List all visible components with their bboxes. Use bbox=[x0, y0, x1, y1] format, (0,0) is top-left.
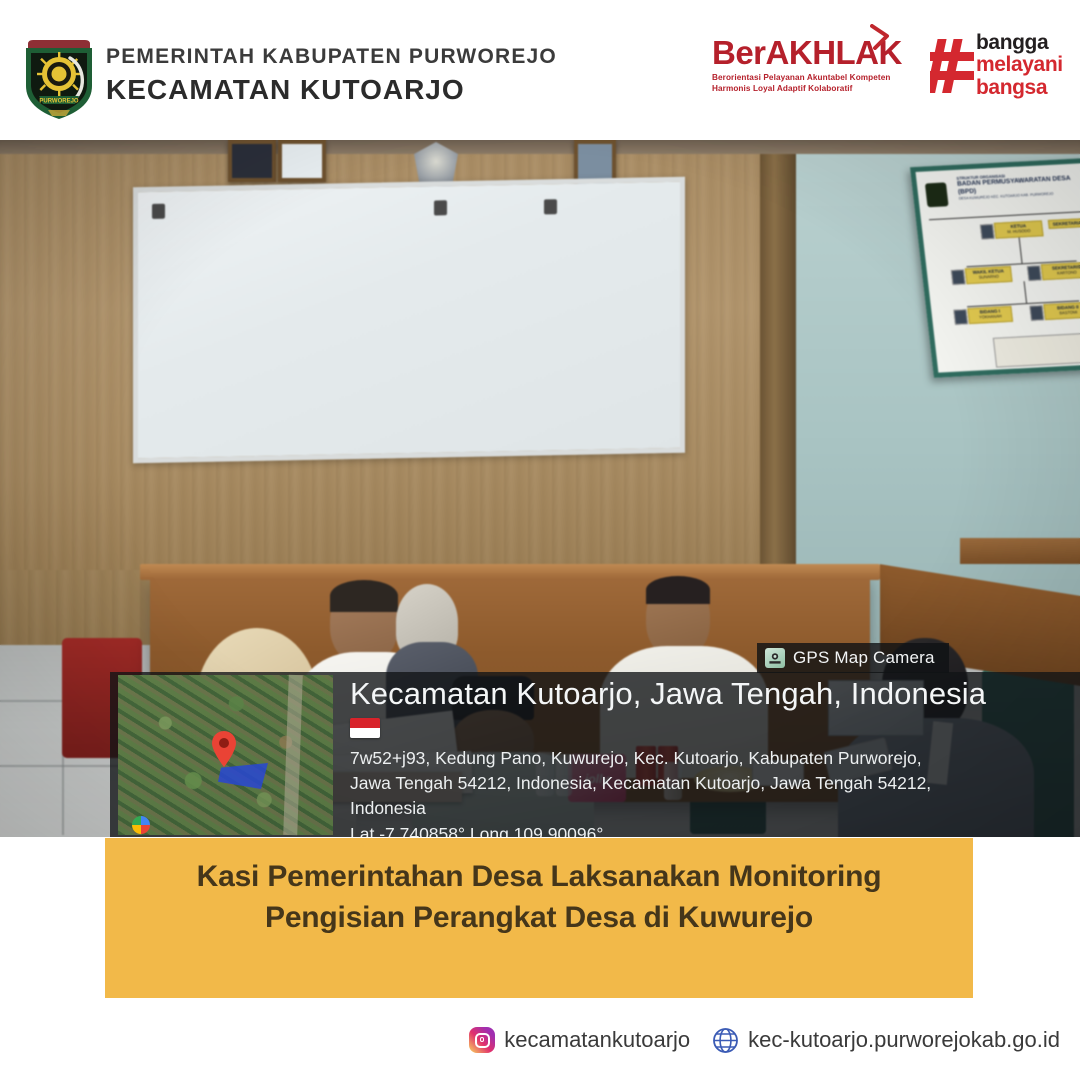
bangga-line1: bangga bbox=[976, 32, 1063, 54]
whiteboard-clip-icon bbox=[434, 200, 447, 215]
poster-node-role: SEKRETARIAT bbox=[1049, 219, 1080, 227]
caption-line1: Kasi Pemerintahan Desa Laksanakan Monito… bbox=[139, 856, 939, 897]
whiteboard-clip-icon bbox=[544, 199, 557, 214]
poster-heading: STRUKTUR ORGANISASI BADAN PERMUSYAWARATA… bbox=[956, 169, 1080, 201]
caption-text: Kasi Pemerintahan Desa Laksanakan Monito… bbox=[139, 856, 939, 939]
poster-node-photo bbox=[1029, 305, 1044, 321]
poster-node-photo bbox=[951, 269, 966, 285]
bangga-melayani-bangsa-logo: bangga melayani bangsa bbox=[930, 33, 1070, 105]
wall-frame-photo bbox=[278, 140, 326, 182]
instagram-handle[interactable]: kecamatankutoarjo bbox=[469, 1027, 690, 1053]
instagram-handle-label: kecamatankutoarjo bbox=[504, 1027, 690, 1053]
page-title-line1: PEMERINTAH KABUPATEN PURWOREJO bbox=[106, 44, 557, 70]
instagram-icon bbox=[469, 1027, 495, 1053]
poster-node-name: YOKHANAH bbox=[969, 313, 1012, 320]
gps-map-camera-app-icon bbox=[765, 648, 785, 668]
page-header: PURWOREJO PEMERINTAH KABUPATEN PURWOREJO… bbox=[0, 0, 1080, 140]
poster-node-sekretariat: SEKRETARIAT bbox=[1048, 218, 1080, 229]
whiteboard-clip-icon bbox=[152, 204, 165, 219]
poster-footnote bbox=[993, 332, 1080, 367]
berakhlak-swoosh-icon bbox=[870, 24, 890, 50]
gps-address: 7w52+j93, Kedung Pano, Kuwurejo, Kec. Ku… bbox=[350, 746, 960, 821]
map-thumbnail bbox=[118, 675, 333, 835]
poster-node-photo bbox=[953, 309, 968, 325]
poster-connector bbox=[1024, 281, 1027, 303]
gps-place-name: Kecamatan Kutoarjo, Jawa Tengah, Indones… bbox=[350, 677, 1078, 711]
event-photo: STRUKTUR ORGANISASI BADAN PERMUSYAWARATA… bbox=[0, 140, 1080, 837]
whiteboard bbox=[133, 177, 685, 464]
poster-node-photo bbox=[980, 224, 995, 240]
berakhlak-tagline-line2: Harmonis Loyal Adaptif Kolaboratif bbox=[712, 83, 902, 94]
page-footer: kecamatankutoarjo kec-kutoarjo.purworejo… bbox=[0, 1000, 1080, 1080]
poster-node-name: M. HUSODO bbox=[996, 227, 1043, 234]
bangga-line3: bangsa bbox=[976, 77, 1063, 99]
map-pin-icon bbox=[210, 730, 238, 768]
gps-lat-long: Lat -7.740858° Long 109.90096° bbox=[350, 822, 1078, 837]
berakhlak-tagline-line1: Berorientasi Pelayanan Akuntabel Kompete… bbox=[712, 72, 902, 83]
poster-node-bidang-1: BIDANG I YOKHANAH bbox=[967, 306, 1013, 324]
google-maps-logo-icon bbox=[132, 816, 150, 834]
header-titles: PEMERINTAH KABUPATEN PURWOREJO KECAMATAN… bbox=[106, 44, 557, 107]
bangga-line2: melayani bbox=[976, 54, 1063, 76]
indonesia-flag-icon bbox=[350, 718, 380, 738]
poster-node-ketua: KETUA M. HUSODO bbox=[994, 220, 1044, 238]
gps-location-text: Kecamatan Kutoarjo, Jawa Tengah, Indones… bbox=[350, 677, 1078, 837]
wooden-bench bbox=[960, 538, 1080, 564]
poster-node-bidang-2: BIDANG II BASTOMI bbox=[1043, 302, 1080, 320]
berakhlak-tagline: Berorientasi Pelayanan Akuntabel Kompete… bbox=[712, 72, 902, 94]
ceiling-strip bbox=[0, 140, 1080, 154]
poster-node-photo bbox=[1027, 265, 1042, 281]
website-link[interactable]: kec-kutoarjo.purworejokab.go.id bbox=[712, 1027, 1060, 1054]
map-road bbox=[283, 675, 303, 835]
caption-line2: Pengisian Perangkat Desa di Kuwurejo bbox=[139, 897, 939, 938]
purworejo-regency-crest-icon: PURWOREJO bbox=[22, 34, 96, 122]
gps-map-camera-badge: GPS Map Camera bbox=[757, 643, 949, 673]
caption-banner: Kasi Pemerintahan Desa Laksanakan Monito… bbox=[105, 838, 973, 998]
poster-node-sekretaris: SEKRETARIS KARTONO bbox=[1041, 262, 1080, 281]
gps-info-panel: Kecamatan Kutoarjo, Jawa Tengah, Indones… bbox=[110, 672, 1080, 837]
poster-connector bbox=[1019, 237, 1023, 263]
website-url-label: kec-kutoarjo.purworejokab.go.id bbox=[748, 1027, 1060, 1053]
bangga-wordmark: bangga melayani bangsa bbox=[976, 32, 1063, 99]
globe-icon bbox=[712, 1027, 739, 1054]
wall-frame-photo bbox=[228, 140, 276, 182]
svg-text:PURWOREJO: PURWOREJO bbox=[39, 99, 79, 105]
poster-crest-icon bbox=[925, 182, 949, 207]
poster-node-name: BASTOMI bbox=[1045, 309, 1080, 316]
bpd-organizational-chart-poster: STRUKTUR ORGANISASI BADAN PERMUSYAWARATA… bbox=[910, 158, 1080, 378]
berakhlak-logo: BerAKHLAK Berorientasi Pelayanan Akuntab… bbox=[712, 36, 902, 94]
poster-node-wakil-ketua: WAKIL KETUA SUNARNO bbox=[965, 266, 1013, 284]
page-title-line2: KECAMATAN KUTOARJO bbox=[106, 72, 557, 107]
hashtag-icon bbox=[930, 37, 974, 95]
gps-map-camera-badge-label: GPS Map Camera bbox=[793, 648, 935, 668]
meeting-table-edge bbox=[140, 564, 880, 580]
